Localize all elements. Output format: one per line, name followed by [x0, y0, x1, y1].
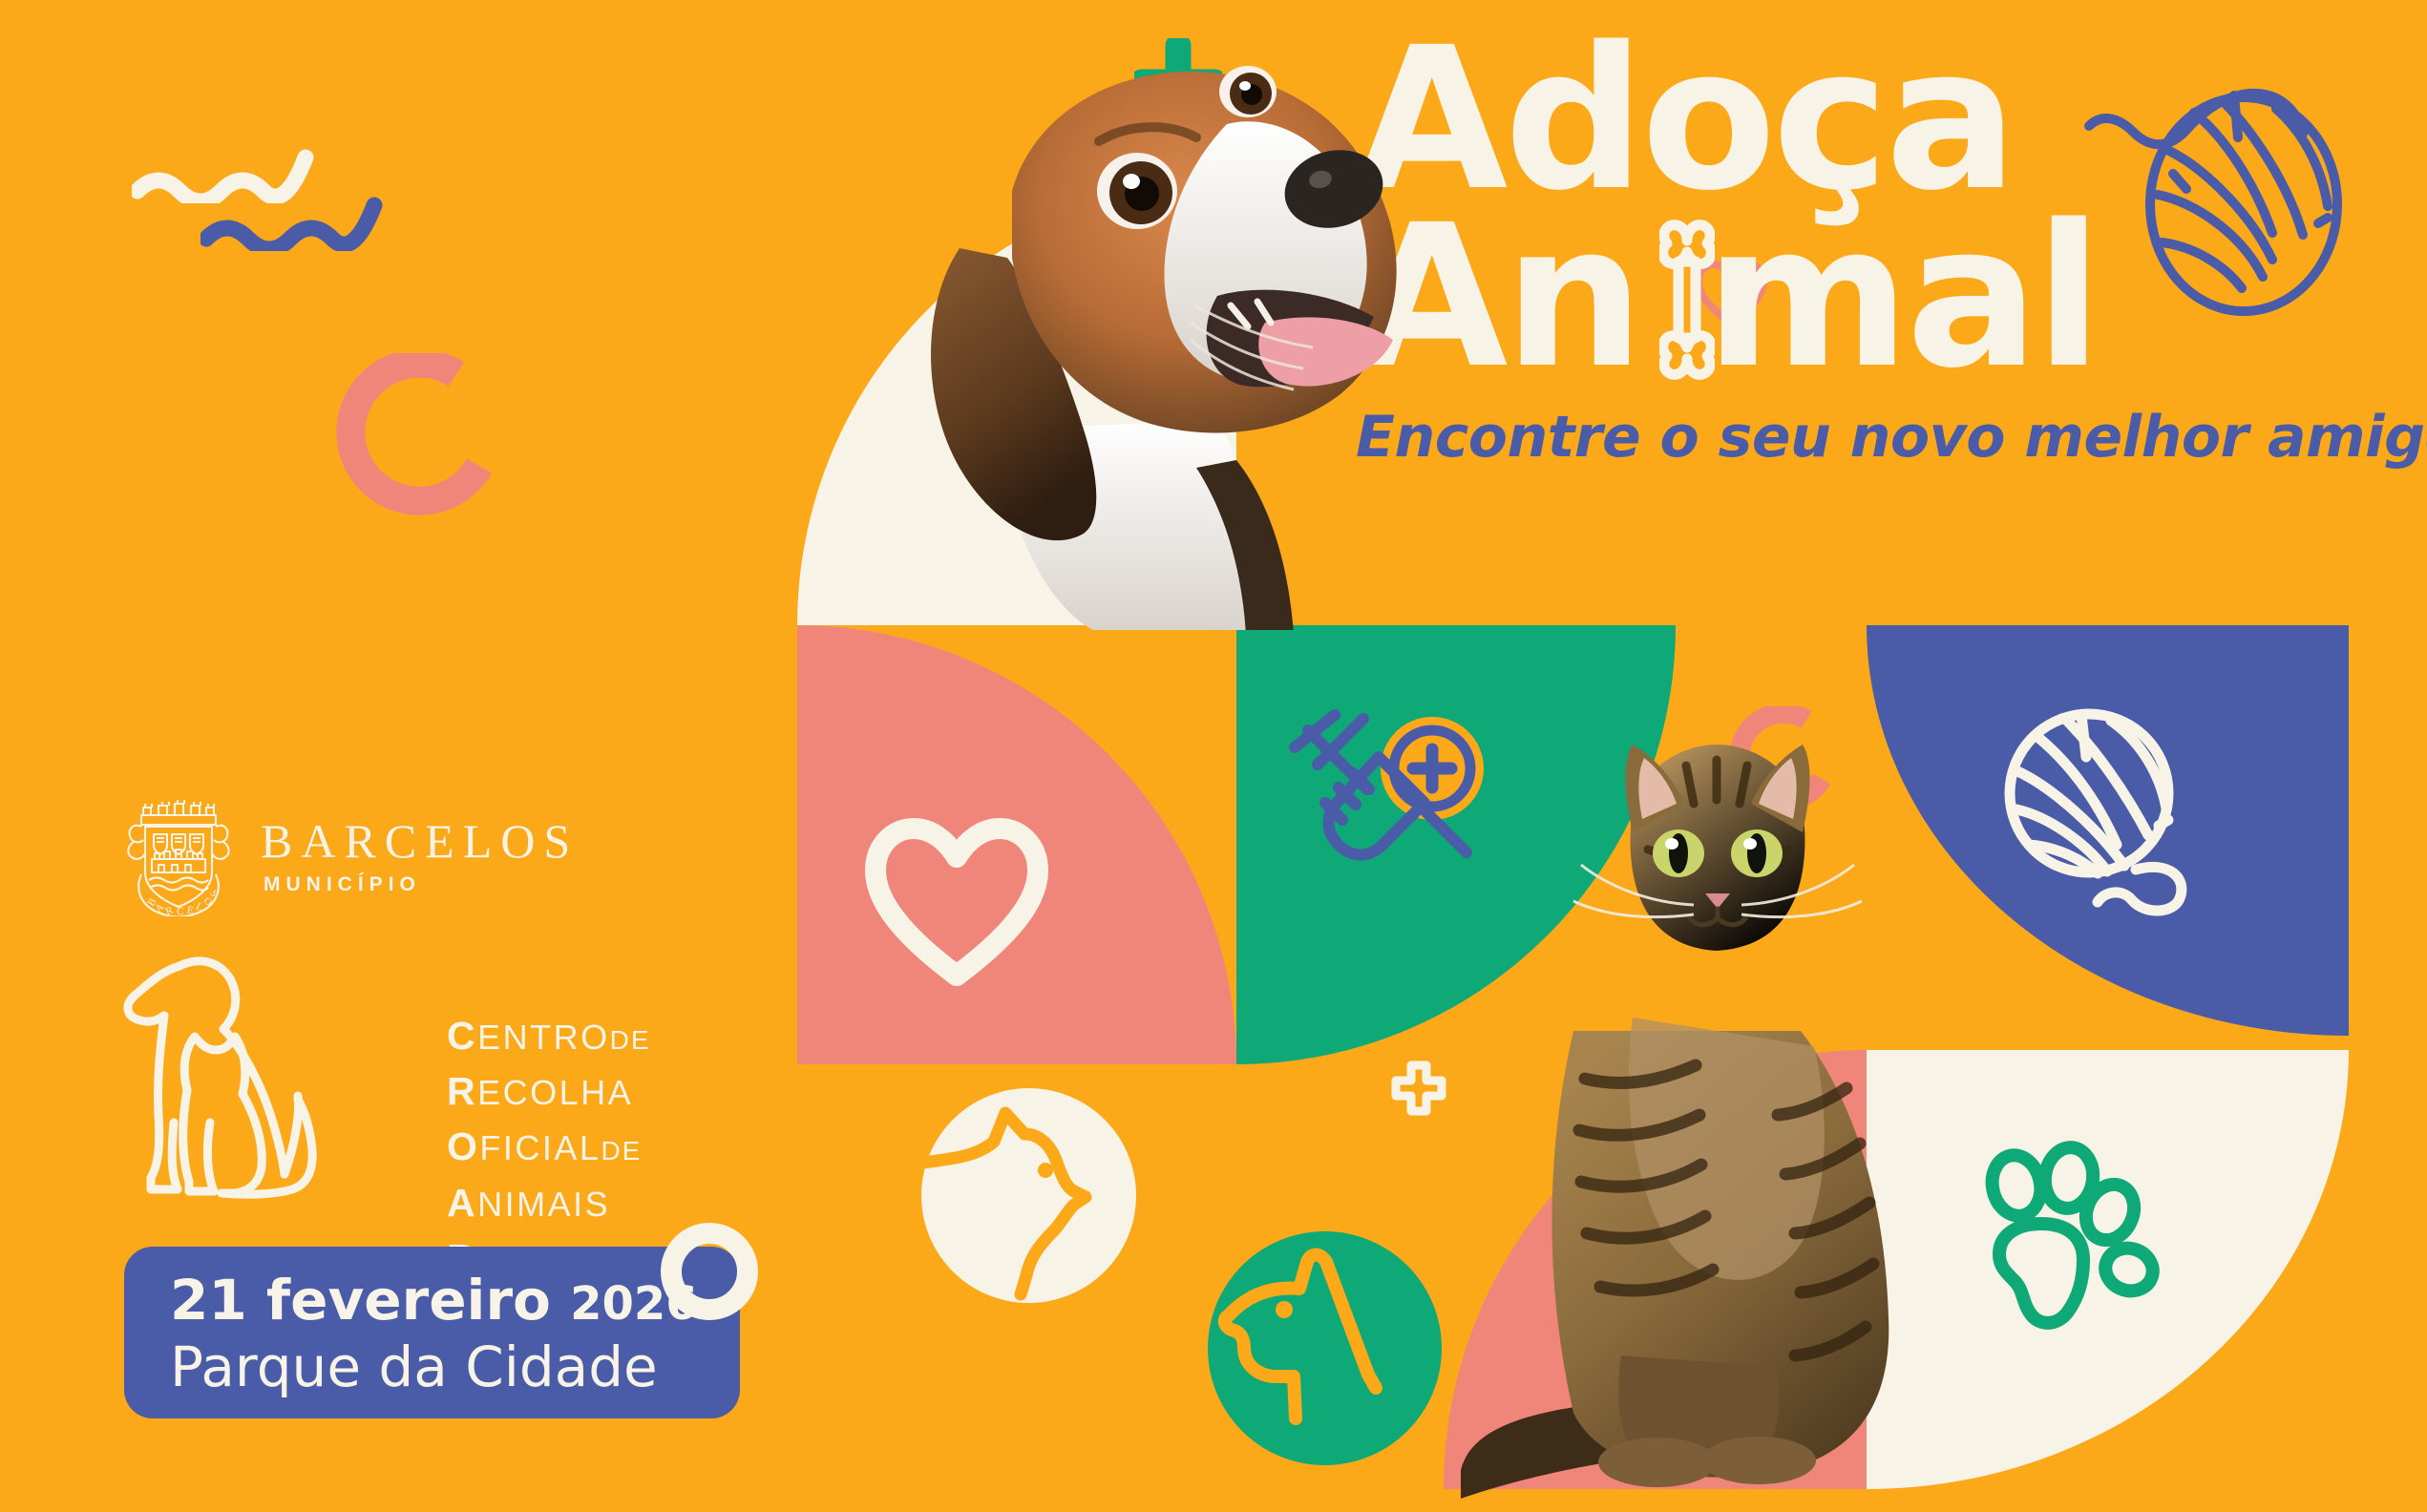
event-date-banner: 21 fevereiro 2026 Parque da Cidade [124, 1247, 740, 1418]
dog-head-badge [1208, 1231, 1442, 1465]
croab-initial-o: O [447, 1124, 479, 1168]
cat-head-badge [921, 1088, 1136, 1303]
yarn-ball-icon [1991, 702, 2205, 921]
croab-line-4: ANIMAIS [447, 1175, 659, 1230]
paw-print-icon [1976, 1136, 2177, 1346]
event-date: 21 fevereiro 2026 [170, 1271, 740, 1330]
croab-suffix-3: DE [601, 1136, 642, 1165]
beagle-dog-photo [816, 19, 1427, 630]
cream-ring-icon [661, 1223, 758, 1320]
tabby-cat-photo [1461, 745, 1967, 1508]
croab-rest-1: ENTRO [477, 1018, 610, 1057]
svg-text:C: C [177, 906, 186, 916]
adoption-poster: Adoça An mal Encontre o seu novo melhor … [0, 0, 2427, 1512]
croab-rest-2: ECOLHA [477, 1073, 633, 1112]
croab-suffix-1: DE [610, 1025, 651, 1055]
croab-rest-4: NIMAIS [477, 1185, 610, 1224]
barcelos-coat-of-arms-icon: B A R C E L O S [122, 794, 235, 916]
blue-squiggle-icon [200, 151, 396, 251]
croab-wordmark: CENTRODE RECOLHA OFICIALDE ANIMAIS BARCE… [447, 1008, 659, 1286]
barcelos-name: BARCELOS [261, 817, 579, 865]
croab-rest-3: FICIAL [479, 1128, 601, 1167]
croab-line-3: OFICIALDE [447, 1119, 659, 1174]
event-location: Parque da Cidade [170, 1335, 740, 1399]
barcelos-brand: B A R C E L O S BARCELOS MUNICÍPIO [122, 794, 523, 928]
heart-outline-icon [864, 811, 1050, 988]
barcelos-wordmark: BARCELOS MUNICÍPIO [261, 817, 579, 896]
coral-arc-icon [336, 353, 498, 515]
cream-plus-outline-icon [1384, 1060, 1453, 1128]
yarn-ball-title-icon [2081, 44, 2368, 321]
croab-initial-a: A [447, 1181, 477, 1225]
event-day-month: 21 fevereiro [170, 1268, 551, 1333]
croab-line-2: RECOLHA [447, 1063, 659, 1119]
headline-subtitle: Encontre o seu novo melhor amigo! [1356, 404, 2368, 471]
croab-line-1: CENTRODE [447, 1008, 659, 1063]
barcelos-subtitle: MUNICÍPIO [264, 873, 579, 896]
croab-initial-c: C [447, 1014, 477, 1058]
croab-initial-r: R [447, 1069, 477, 1113]
croab-brand: CENTRODE RECOLHA OFICIALDE ANIMAIS BARCE… [122, 955, 571, 1231]
headline-line-2-text: An mal [1356, 182, 2099, 411]
bone-icon [1659, 220, 1715, 380]
dog-cat-outline-icon [122, 955, 323, 1222]
